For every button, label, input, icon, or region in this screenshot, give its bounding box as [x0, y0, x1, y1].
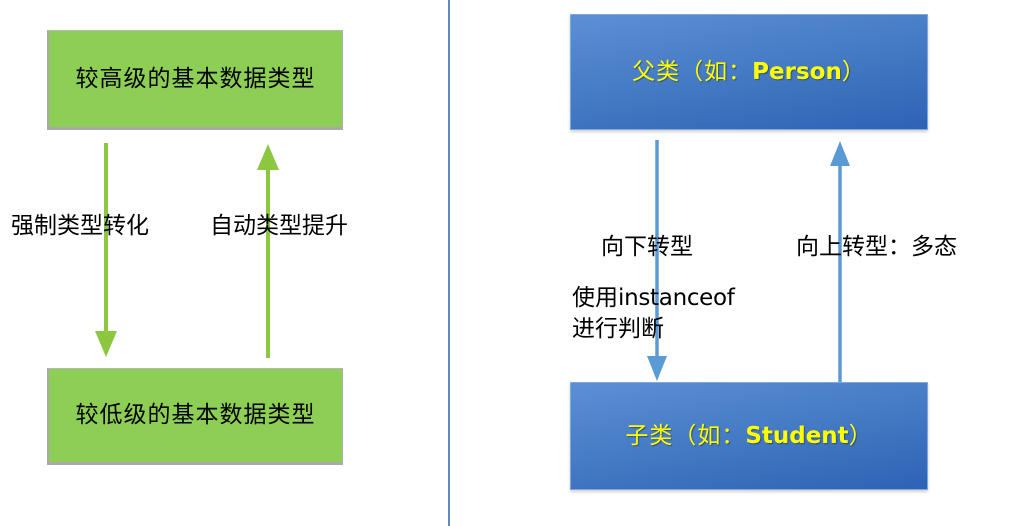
left-top-box: 较高级的基本数据类型 — [47, 30, 343, 130]
right-top-box: 父类（如：Person） — [570, 14, 928, 130]
right-top-box-label-close: ） — [842, 59, 866, 85]
left-down-arrow-label: 强制类型转化 — [11, 211, 149, 242]
right-top-box-label-group: 父类（如：Person） — [632, 58, 866, 87]
instanceof-note-line1-cjk: 使用 — [572, 285, 618, 311]
right-top-box-label-cjk: 父类（如： — [632, 59, 752, 85]
instanceof-note: 使用instanceof 进行判断 — [572, 283, 735, 345]
right-bottom-box-label-close: ） — [849, 423, 873, 449]
left-top-box-label: 较高级的基本数据类型 — [76, 65, 316, 94]
instanceof-note-line1: 使用instanceof — [572, 283, 735, 314]
instanceof-note-line1-latin: instanceof — [618, 285, 735, 311]
left-bottom-box: 较低级的基本数据类型 — [47, 368, 343, 465]
green-up-arrow — [252, 143, 284, 358]
diagram-canvas: 较高级的基本数据类型 强制类型转化 自动类型提升 较低级的基本数据类型 父类（如… — [0, 0, 1018, 526]
right-bottom-box-label-cjk: 子类（如： — [625, 423, 745, 449]
green-down-arrow — [90, 143, 122, 358]
left-up-arrow-label: 自动类型提升 — [210, 211, 348, 242]
right-bottom-box-label-group: 子类（如：Student） — [625, 422, 872, 451]
instanceof-note-line2: 进行判断 — [572, 314, 735, 345]
right-bottom-box-label-latin: Student — [745, 423, 848, 449]
right-top-box-label-latin: Person — [752, 59, 842, 85]
right-bottom-box: 子类（如：Student） — [570, 382, 928, 490]
right-up-arrow-label: 向上转型：多态 — [796, 232, 957, 263]
panel-divider — [448, 0, 450, 526]
right-down-arrow-label: 向下转型 — [601, 232, 693, 263]
left-bottom-box-label: 较低级的基本数据类型 — [76, 401, 316, 430]
